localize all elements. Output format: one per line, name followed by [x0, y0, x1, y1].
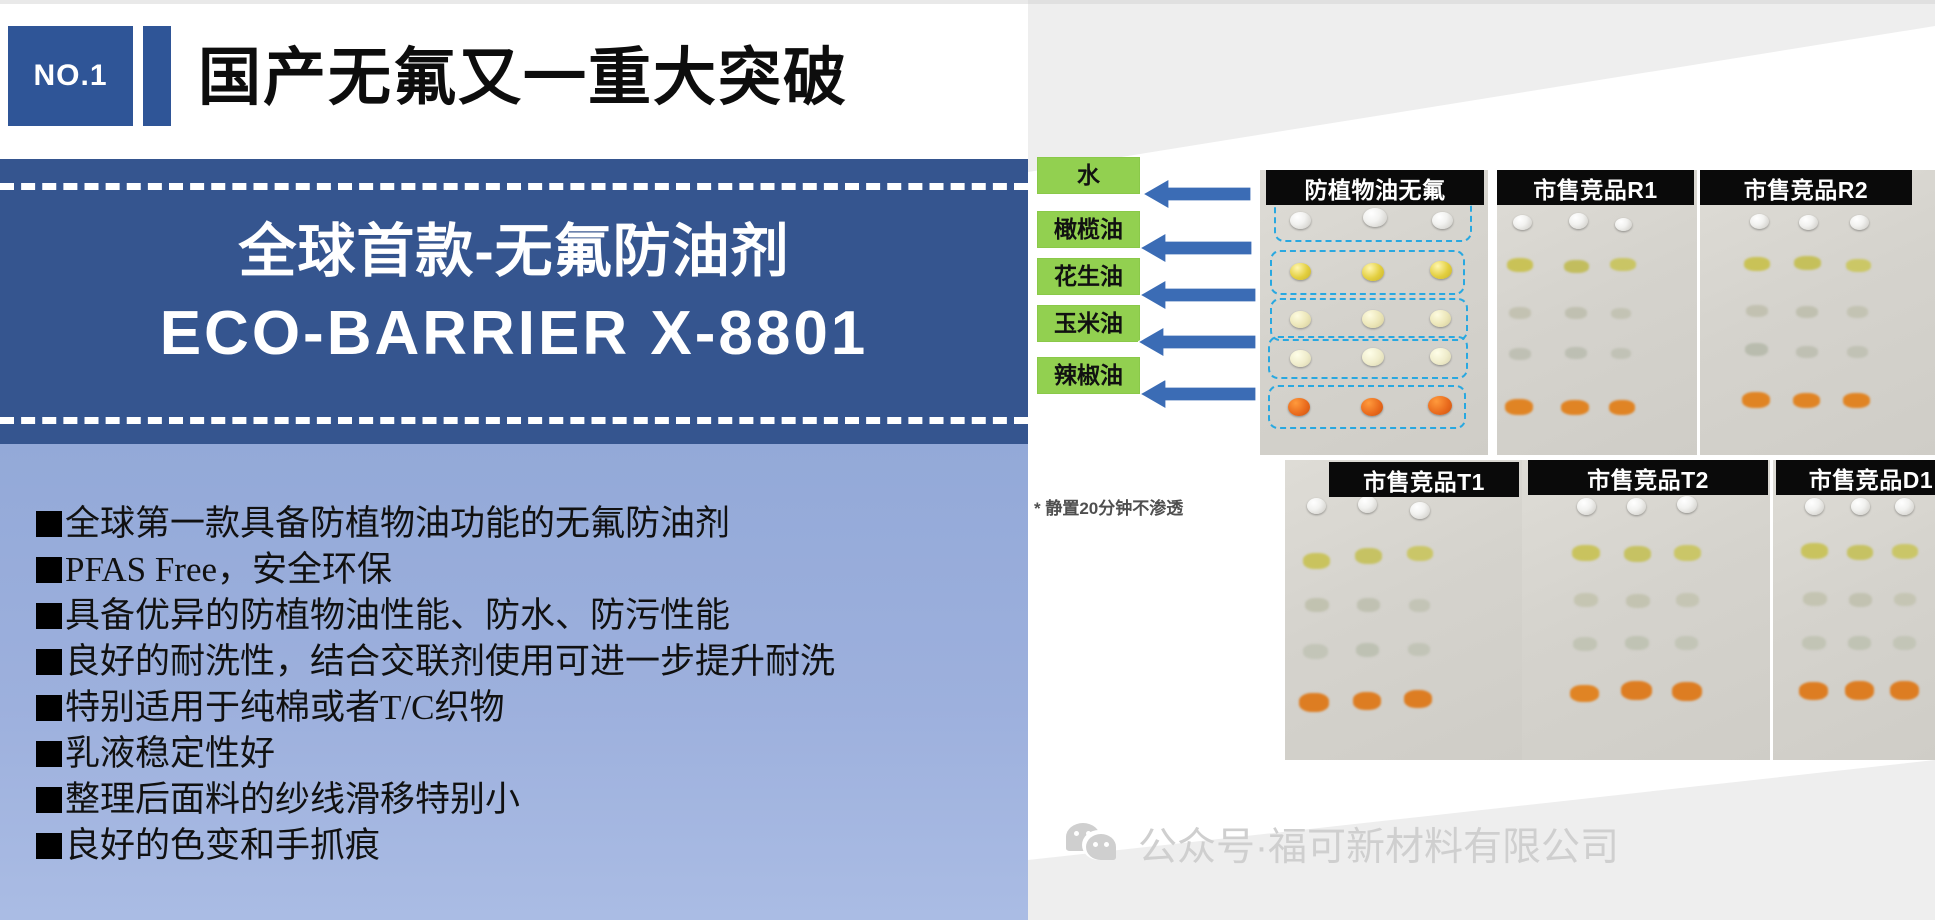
pointer-arrow-icon	[1140, 233, 1252, 263]
bullet-square-icon	[36, 557, 62, 583]
stain-spot	[1890, 681, 1919, 700]
bullet-square-icon	[36, 833, 62, 859]
droplet	[1577, 498, 1596, 515]
stain-spot	[1672, 682, 1702, 701]
stain-spot	[1409, 599, 1430, 612]
stain-spot	[1745, 343, 1768, 356]
stain-spot	[1799, 682, 1828, 700]
bullet-square-icon	[36, 649, 62, 675]
list-item-label: 良好的色变和手抓痕	[65, 824, 380, 868]
rank-badge: NO.1	[8, 26, 133, 126]
sample-panel	[1497, 170, 1697, 455]
stain-spot	[1357, 598, 1380, 612]
stain-spot	[1299, 693, 1329, 712]
rank-badge-label: NO.1	[33, 59, 107, 93]
list-item-label: PFAS Free，安全环保	[65, 548, 392, 592]
pointer-arrow-icon	[1140, 379, 1256, 409]
stain-spot	[1793, 393, 1820, 408]
droplet	[1677, 496, 1697, 513]
stain-spot	[1848, 636, 1871, 650]
highlight-box	[1268, 336, 1468, 379]
slide-root: NO.1 国产无氟又一重大突破 全球首款-无氟防油剂 ECO-BARRIER X…	[0, 0, 1935, 920]
stain-spot	[1564, 260, 1589, 273]
droplet	[1805, 498, 1824, 515]
legend-chip: 辣椒油	[1037, 357, 1140, 394]
bullet-square-icon	[36, 511, 62, 537]
stain-spot	[1574, 593, 1598, 607]
stain-spot	[1305, 598, 1329, 612]
bullet-square-icon	[36, 787, 62, 813]
stain-spot	[1847, 545, 1873, 560]
left-content-column: NO.1 国产无氟又一重大突破 全球首款-无氟防油剂 ECO-BARRIER X…	[0, 0, 1028, 920]
stain-spot	[1407, 546, 1433, 561]
product-banner: 全球首款-无氟防油剂 ECO-BARRIER X-8801	[0, 159, 1028, 444]
list-item-label: 全球第一款具备防植物油功能的无氟防油剂	[65, 502, 730, 546]
stain-spot	[1626, 594, 1650, 608]
pointer-arrow-icon	[1143, 179, 1251, 209]
list-item-label: 整理后面料的纱线滑移特别小	[65, 778, 520, 822]
stain-spot	[1572, 545, 1600, 561]
sample-panel-title: 防植物油无氟	[1266, 170, 1484, 205]
stain-spot	[1355, 548, 1382, 564]
header-accent-bar	[143, 26, 171, 126]
highlight-box	[1268, 385, 1466, 429]
test-footnote: * 静置20分钟不渗透	[1034, 494, 1183, 519]
banner-product-name: ECO-BARRIER X-8801	[0, 293, 1028, 375]
banner-dashed-bottom	[0, 417, 1028, 424]
sample-photo	[1522, 460, 1770, 760]
sample-panel	[1700, 170, 1935, 455]
liquid-legend: 水 橄榄油 花生油 玉米油	[1028, 0, 1268, 920]
list-item-label: 特别适用于纯棉或者T/C织物	[65, 686, 504, 730]
stain-spot	[1742, 392, 1770, 408]
stain-spot	[1849, 593, 1872, 607]
droplet	[1850, 215, 1869, 230]
sample-panel	[1260, 170, 1488, 455]
stain-spot	[1509, 307, 1531, 319]
stain-spot	[1796, 306, 1818, 318]
stain-spot	[1846, 259, 1871, 272]
stain-spot	[1674, 545, 1701, 561]
list-item: 特别适用于纯棉或者T/C织物	[36, 686, 1028, 730]
watermark-text: 公众号·福可新材料有限公司	[1138, 816, 1619, 872]
stain-spot	[1610, 258, 1636, 271]
stain-spot	[1621, 681, 1652, 700]
sample-panel-title: 市售竞品T1	[1329, 462, 1519, 497]
stain-spot	[1353, 692, 1381, 710]
list-item: 良好的色变和手抓痕	[36, 824, 1028, 868]
banner-text-block: 全球首款-无氟防油剂 ECO-BARRIER X-8801	[0, 211, 1028, 375]
sample-panel-title: 市售竞品R1	[1497, 170, 1694, 205]
droplet	[1410, 502, 1430, 519]
list-item-label: 良好的耐洗性，结合交联剂使用可进一步提升耐洗	[65, 640, 835, 684]
banner-dashed-top	[0, 183, 1028, 190]
bullet-square-icon	[36, 695, 62, 721]
legend-chip: 玉米油	[1037, 305, 1140, 342]
page-title: 国产无氟又一重大突破	[198, 28, 848, 128]
stain-spot	[1803, 592, 1827, 606]
droplet	[1851, 498, 1870, 515]
highlight-box	[1270, 298, 1468, 341]
stain-spot	[1565, 347, 1587, 359]
legend-chip: 水	[1037, 157, 1140, 194]
stain-spot	[1624, 546, 1651, 562]
pointer-arrow-icon	[1138, 327, 1256, 357]
sample-panel-title: 市售竞品T2	[1528, 460, 1768, 495]
bullet-square-icon	[36, 741, 62, 767]
droplet	[1307, 498, 1326, 514]
bullet-square-icon	[36, 603, 62, 629]
stain-spot	[1303, 553, 1330, 569]
stain-spot	[1847, 306, 1868, 318]
list-item: 全球第一款具备防植物油功能的无氟防油剂	[36, 502, 1028, 546]
stain-spot	[1802, 636, 1826, 650]
list-item: 良好的耐洗性，结合交联剂使用可进一步提升耐洗	[36, 640, 1028, 684]
stain-spot	[1507, 258, 1533, 272]
slide-header: NO.1 国产无氟又一重大突破	[0, 4, 1028, 159]
sample-panel-title: 市售竞品D1	[1776, 460, 1935, 495]
list-item: 乳液稳定性好	[36, 732, 1028, 776]
stain-spot	[1573, 637, 1597, 651]
stain-spot	[1561, 400, 1589, 415]
droplet	[1569, 213, 1588, 229]
stain-spot	[1892, 544, 1918, 559]
stain-spot	[1847, 346, 1868, 358]
stain-spot	[1675, 636, 1698, 650]
stain-spot	[1570, 685, 1599, 702]
list-item-label: 具备优异的防植物油性能、防水、防污性能	[65, 594, 730, 638]
stain-spot	[1565, 307, 1587, 319]
droplet	[1627, 498, 1646, 515]
pointer-arrow-icon	[1140, 280, 1256, 310]
list-item: 整理后面料的纱线滑移特别小	[36, 778, 1028, 822]
stain-spot	[1303, 644, 1328, 659]
banner-subtitle: 全球首款-无氟防油剂	[0, 211, 1028, 293]
stain-spot	[1676, 593, 1699, 607]
stain-spot	[1796, 346, 1818, 358]
feature-bullet-list: 全球第一款具备防植物油功能的无氟防油剂 PFAS Free，安全环保 具备优异的…	[0, 444, 1028, 920]
stain-spot	[1845, 681, 1874, 700]
stain-spot	[1794, 256, 1821, 270]
stain-spot	[1625, 636, 1649, 650]
sample-panel	[1773, 460, 1935, 760]
stain-spot	[1404, 690, 1432, 708]
list-item-label: 乳液稳定性好	[65, 732, 275, 776]
droplet	[1513, 215, 1532, 230]
stain-spot	[1744, 257, 1770, 271]
sample-panel	[1285, 460, 1522, 760]
droplet	[1358, 496, 1377, 513]
droplet	[1615, 218, 1632, 231]
stain-spot	[1894, 593, 1916, 606]
sample-panel	[1522, 460, 1770, 760]
stain-spot	[1801, 543, 1828, 559]
watermark: 公众号·福可新材料有限公司	[1066, 816, 1619, 872]
stain-spot	[1509, 348, 1531, 360]
stain-spot	[1609, 400, 1635, 415]
wechat-icon	[1066, 823, 1122, 865]
list-item: 具备优异的防植物油性能、防水、防污性能	[36, 594, 1028, 638]
stain-spot	[1843, 393, 1870, 408]
stain-spot	[1408, 643, 1430, 656]
droplet	[1895, 498, 1914, 515]
sample-panel-title: 市售竞品R2	[1700, 170, 1912, 205]
stain-spot	[1893, 636, 1916, 650]
stain-spot	[1611, 348, 1631, 359]
stain-spot	[1746, 305, 1768, 317]
highlight-box	[1270, 250, 1465, 295]
test-result-panel: 水 橄榄油 花生油 玉米油	[1028, 0, 1935, 920]
droplet	[1799, 215, 1818, 230]
legend-chip: 橄榄油	[1037, 211, 1140, 248]
list-item: PFAS Free，安全环保	[36, 548, 1028, 592]
stain-spot	[1356, 643, 1379, 657]
stain-spot	[1505, 399, 1533, 415]
droplet	[1750, 214, 1769, 229]
legend-chip: 花生油	[1037, 258, 1140, 295]
stain-spot	[1611, 308, 1631, 319]
